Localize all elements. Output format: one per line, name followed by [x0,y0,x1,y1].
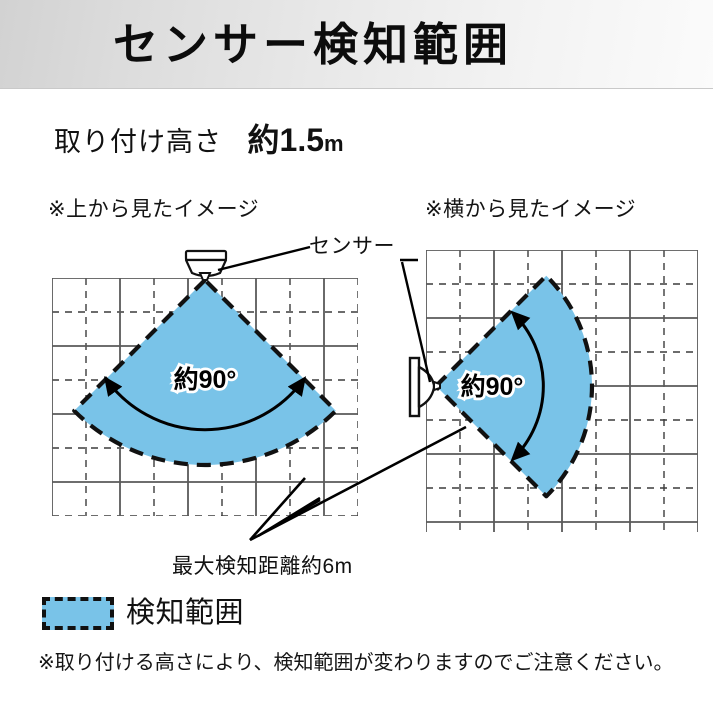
legend-label-detection-area: 検知範囲 [126,596,244,630]
max-range-callout-label: 最大検知距離約6m [172,553,353,581]
caption-top-view: ※上から見たイメージ [48,196,259,224]
legend-swatch-detection-area [42,597,114,630]
angle-label-side-view: 約90° [461,372,524,401]
mounting-height-value: 約1.5 [248,122,325,158]
caption-side-view: ※横から見たイメージ [425,196,636,224]
wall-sensor-icon [410,358,440,416]
footnote-text: ※取り付ける高さにより、検知範囲が変わりますのでご注意ください。 [38,650,674,677]
angle-label-top-view: 約90° [174,365,237,394]
mounting-height-label: 取り付け高さ [54,127,222,157]
top-view-diagram: 約90° [20,240,390,530]
header-bar: センサー検知範囲 [0,0,713,89]
mounting-height-unit: m [324,131,345,156]
mounting-height-text: 取り付け高さ 約1.5m [54,122,345,162]
ceiling-sensor-icon [186,251,226,280]
sensor-leader-line [218,247,310,270]
page-title: センサー検知範囲 [113,14,513,76]
side-view-diagram: 約90° [400,240,713,540]
legend: 検知範囲 [42,596,244,630]
